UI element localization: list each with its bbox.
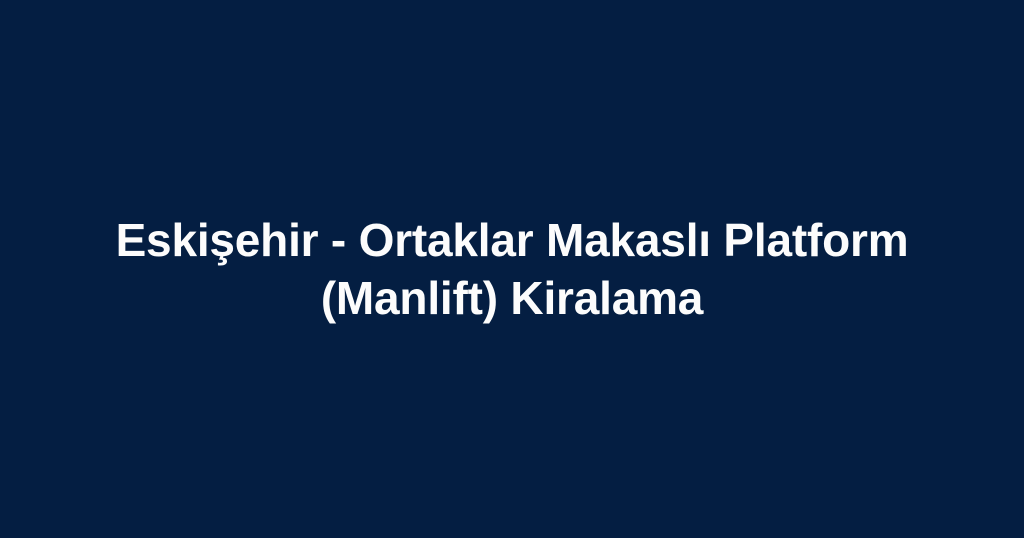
share-banner: Eskişehir - Ortaklar Makaslı Platform (M…	[0, 0, 1024, 538]
page-title: Eskişehir - Ortaklar Makaslı Platform (M…	[116, 211, 909, 327]
page-title-line-2: (Manlift) Kiralama	[116, 269, 909, 327]
banner-content: Eskişehir - Ortaklar Makaslı Platform (M…	[62, 211, 962, 327]
page-title-line-1: Eskişehir - Ortaklar Makaslı Platform	[116, 211, 909, 269]
